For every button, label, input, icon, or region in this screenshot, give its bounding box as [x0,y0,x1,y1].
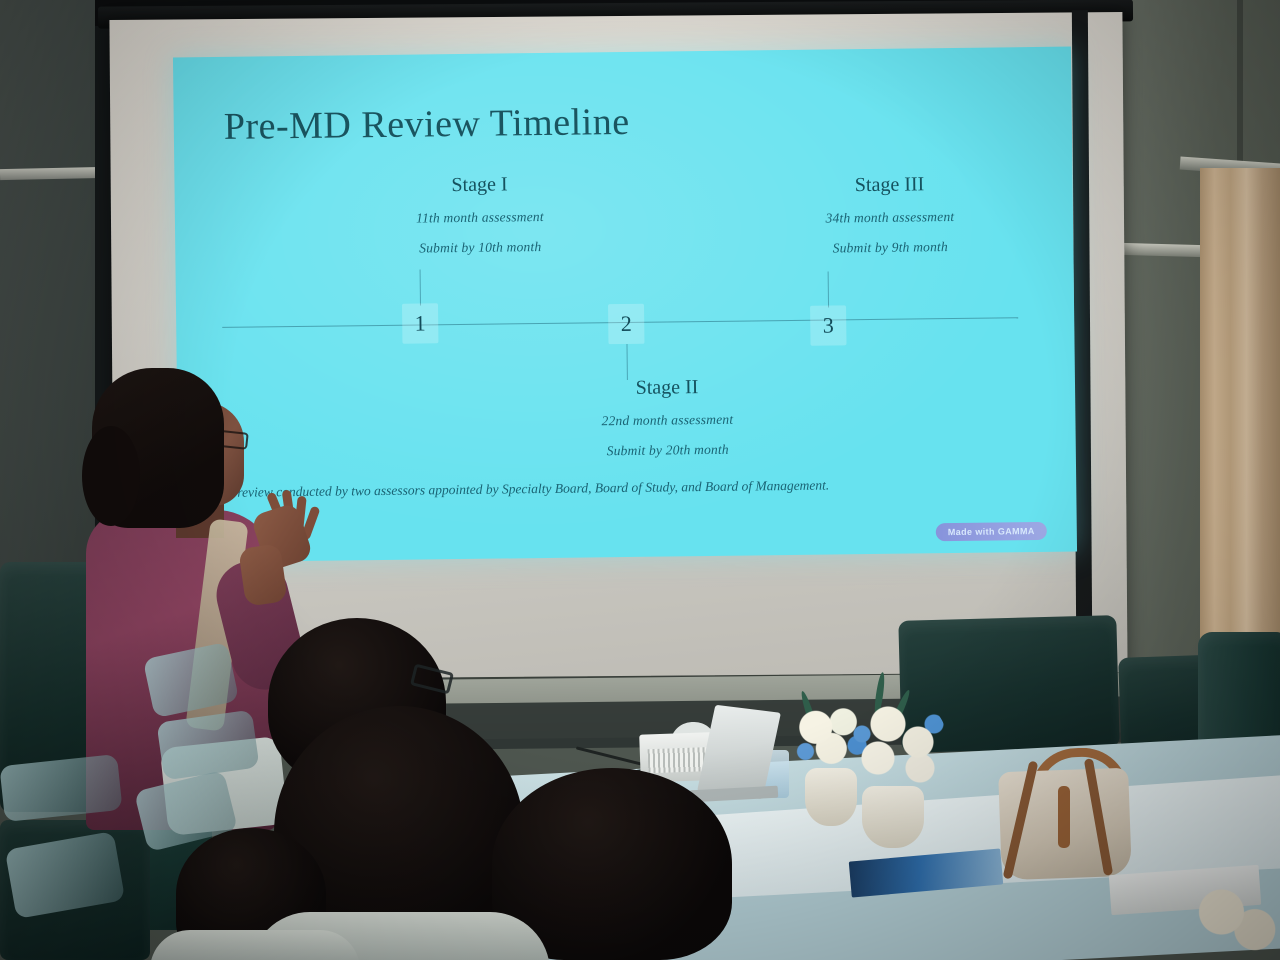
stage-1-submission: Submit by 10th month [345,238,615,257]
flower-vase-right [862,786,924,848]
stage-1-assessment: 11th month assessment [345,208,615,227]
timeline-marker-2: 2 [608,304,644,344]
stage-2-connector [626,344,627,380]
stage-2-submission: Submit by 20th month [533,441,803,460]
stage-1-heading: Stage I [344,172,614,198]
timeline-marker-1: 1 [402,303,438,343]
stage-3-assessment: 34th month assessment [755,208,1025,227]
flower-vase-left [805,768,857,826]
slide-footnote: Each review conducted by two assessors a… [206,475,1056,501]
handbag-tassel [1058,786,1070,848]
presenter-hand-lower [238,543,288,606]
audience-member-4-shoulders [150,930,360,960]
made-with-gamma-badge: Made with GAMMA [936,522,1047,541]
stage-1-block: Stage I 11th month assessment Submit by … [344,172,615,271]
presenter-hair-bun [82,426,140,526]
timeline-marker-3: 3 [810,305,846,345]
stage-3-heading: Stage III [754,172,1024,198]
curtain [1200,168,1280,688]
stage-1-connector [420,269,421,305]
flower-foreground-right [1190,880,1280,960]
stage-2-assessment: 22nd month assessment [532,411,802,430]
stage-2-block: Stage II 22nd month assessment Submit by… [532,375,803,474]
slide-title: Pre-MD Review Timeline [224,100,630,149]
stage-3-submission: Submit by 9th month [755,238,1025,257]
stage-3-connector [828,272,829,308]
flower-bouquet-right [848,694,948,794]
presentation-photo-scene: Pre-MD Review Timeline Stage I 11th mont… [0,0,1280,960]
presentation-slide: Pre-MD Review Timeline Stage I 11th mont… [173,47,1077,563]
left-wall-rail [0,167,106,180]
stage-3-block: Stage III 34th month assessment Submit b… [754,172,1025,271]
stage-2-heading: Stage II [532,375,802,401]
